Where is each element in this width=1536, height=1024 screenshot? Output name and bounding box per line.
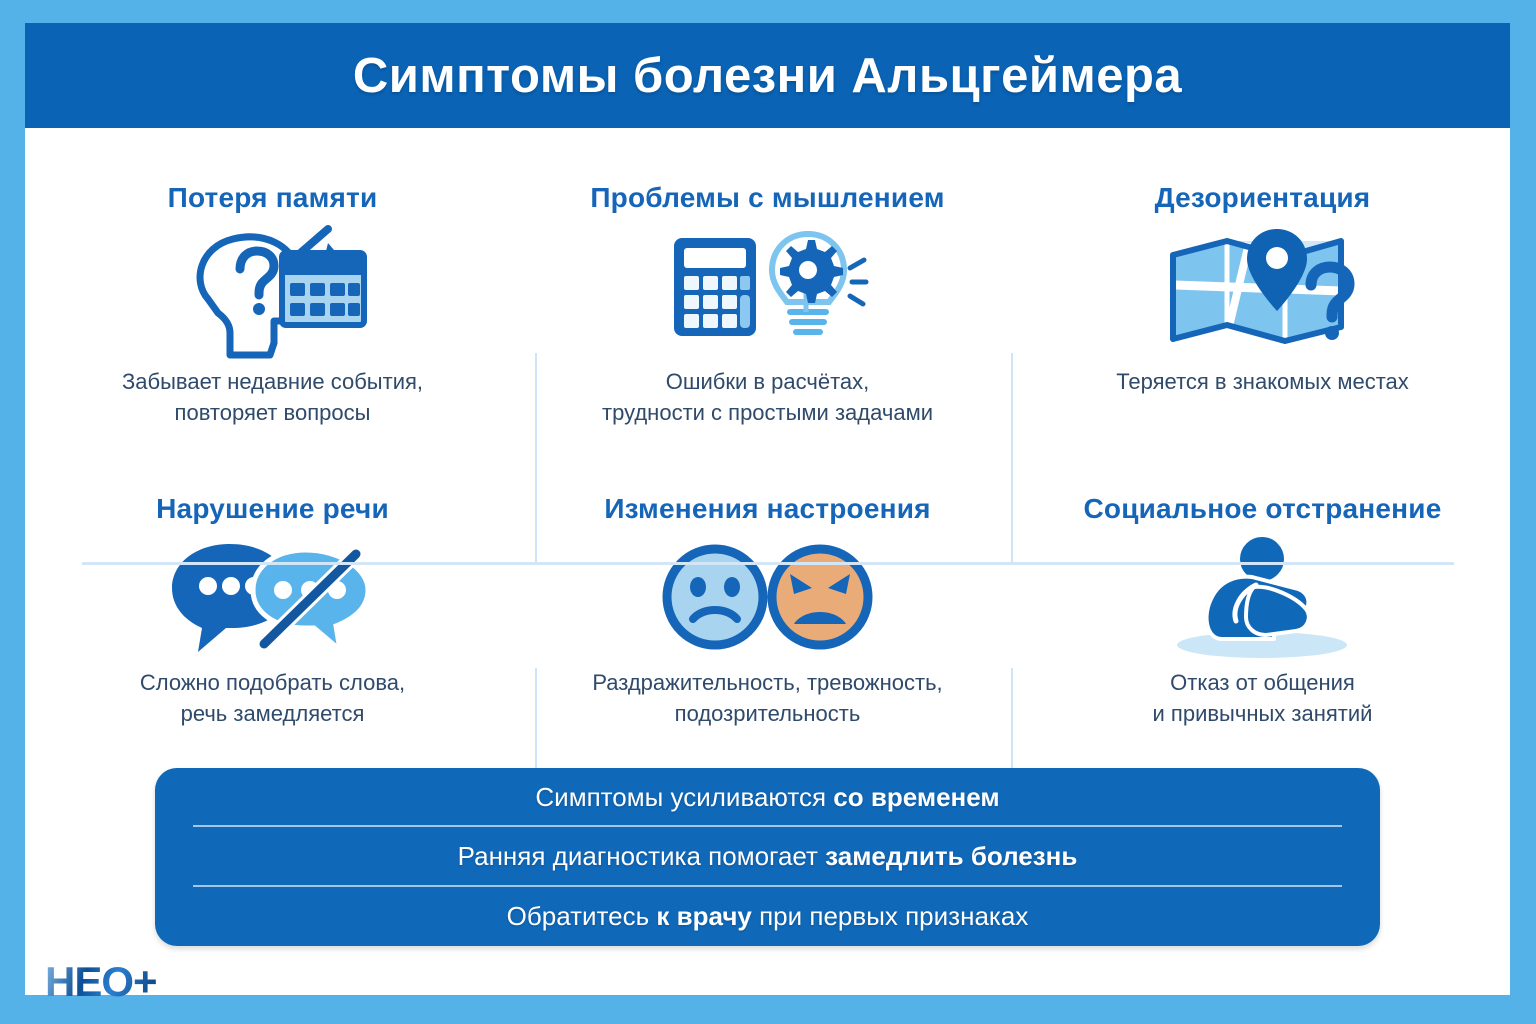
card-title: Социальное отстранение — [1084, 493, 1442, 525]
grid-divider-vertical — [535, 353, 537, 565]
grid-divider-horizontal — [82, 562, 1454, 565]
key-message-text: Симптомы усиливаются со временем — [535, 782, 999, 813]
card-description-line: Сложно подобрать слова, — [140, 667, 405, 698]
key-message-text: Ранняя диагностика помогает замедлить бо… — [458, 841, 1078, 872]
symptom-card-social-withdrawal[interactable]: Социальное отстранение Отказ от общения … — [1015, 443, 1510, 758]
map-pin-question-icon — [1165, 216, 1360, 366]
key-message-normal: Обратитесь — [507, 901, 657, 931]
grid-divider-vertical — [1011, 353, 1013, 565]
key-message-row: Ранняя диагностика помогает замедлить бо… — [155, 827, 1380, 886]
sad-and-angry-faces-icon — [660, 527, 875, 667]
card-description: Теряется в знакомых местах — [1116, 366, 1409, 397]
card-description-line: повторяет вопросы — [122, 397, 423, 428]
card-description-line: Теряется в знакомых местах — [1116, 366, 1409, 397]
key-message-normal: при первых признаках — [752, 901, 1028, 931]
card-description: Отказ от общения и привычных занятий — [1153, 667, 1373, 729]
key-message-bold: к врачу — [656, 901, 751, 931]
key-message-bold: со временем — [833, 782, 999, 812]
card-description-line: Раздражительность, тревожность, — [592, 667, 942, 698]
key-message-normal: Симптомы усиливаются — [535, 782, 833, 812]
header-bar: Симптомы болезни Альцгеймера — [25, 23, 1510, 128]
symptom-card-thinking-problems[interactable]: Проблемы с мышлением — [520, 128, 1015, 443]
key-message-normal: Ранняя диагностика помогает — [458, 841, 826, 871]
card-description-line: Отказ от общения — [1153, 667, 1373, 698]
card-title: Проблемы с мышлением — [590, 182, 944, 214]
key-message-row: Симптомы усиливаются со временем — [155, 768, 1380, 827]
key-messages-panel: Симптомы усиливаются со временем Ранняя … — [155, 768, 1380, 946]
speech-bubbles-slashed-icon — [168, 527, 378, 667]
card-title: Дезориентация — [1155, 182, 1371, 214]
key-message-text: Обратитесь к врачу при первых признаках — [507, 901, 1029, 932]
card-title: Нарушение речи — [156, 493, 389, 525]
symptom-card-disorientation[interactable]: Дезориентация Теряется в знакомы — [1015, 128, 1510, 443]
card-description: Ошибки в расчётах, трудности с простыми … — [602, 366, 933, 428]
person-sitting-alone-icon — [1170, 527, 1355, 667]
brand-logo: НЕО+ — [45, 961, 157, 1003]
card-title: Изменения настроения — [604, 493, 930, 525]
card-description-line: трудности с простыми задачами — [602, 397, 933, 428]
card-description-line: Забывает недавние события, — [122, 366, 423, 397]
head-question-calendar-icon — [178, 216, 368, 366]
card-description-line: подозрительность — [592, 698, 942, 729]
symptom-card-memory-loss[interactable]: Потеря памяти — [25, 128, 520, 443]
symptom-card-speech-impairment[interactable]: Нарушение речи — [25, 443, 520, 758]
poster-card: Симптомы болезни Альцгеймера Потеря памя… — [25, 23, 1510, 995]
card-description: Раздражительность, тревожность, подозрит… — [592, 667, 942, 729]
card-description: Сложно подобрать слова, речь замедляется — [140, 667, 405, 729]
card-description-line: и привычных занятий — [1153, 698, 1373, 729]
card-description: Забывает недавние события, повторяет воп… — [122, 366, 423, 428]
calculator-lightbulb-gear-icon — [668, 216, 868, 366]
card-description-line: речь замедляется — [140, 698, 405, 729]
symptom-card-mood-changes[interactable]: Изменения настроения Раздражительность, … — [520, 443, 1015, 758]
key-message-row: Обратитесь к врачу при первых признаках — [155, 887, 1380, 946]
page-title: Симптомы болезни Альцгеймера — [353, 48, 1182, 104]
key-message-bold: замедлить болезнь — [825, 841, 1077, 871]
symptom-grid: Потеря памяти — [25, 128, 1510, 758]
card-description-line: Ошибки в расчётах, — [602, 366, 933, 397]
card-title: Потеря памяти — [168, 182, 378, 214]
